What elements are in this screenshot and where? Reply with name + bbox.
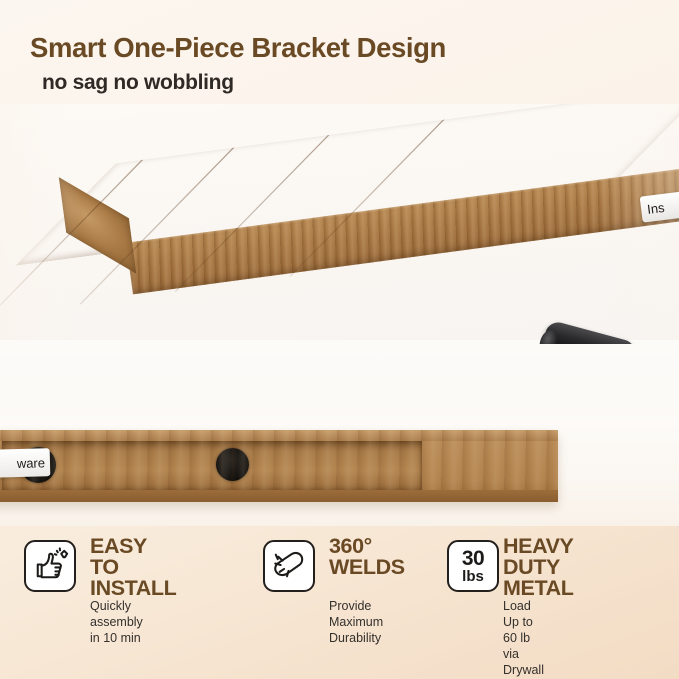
thumbs-up-sparkle-icon	[24, 540, 76, 592]
welding-torch-spark-icon	[263, 540, 315, 592]
shelf-front-lip	[0, 490, 558, 502]
weight-capacity-unit: lbs	[449, 568, 497, 585]
feature-list: EASY TO INSTALL Quickly assembly in 10 m…	[0, 528, 679, 679]
wood-shelf-underside	[0, 430, 558, 502]
feature-subtitle: Provide Maximum Durability	[329, 598, 383, 646]
feature-title: 360° WELDS	[329, 536, 405, 578]
product-label-lower: ware	[0, 448, 50, 478]
weight-capacity-badge: 30 lbs	[447, 540, 499, 592]
infographic-page: Smart One-Piece Bracket Design no sag no…	[0, 0, 679, 679]
feature-title: EASY TO INSTALL	[90, 536, 176, 599]
page-title: Smart One-Piece Bracket Design	[30, 32, 446, 64]
product-photo-upper	[0, 104, 679, 344]
wood-shelf-slab	[116, 104, 679, 332]
metal-bracket-upper	[528, 326, 679, 344]
header: Smart One-Piece Bracket Design no sag no…	[0, 0, 679, 118]
feature-subtitle: Quickly assembly in 10 min	[90, 598, 143, 646]
feature-title: HEAVY DUTY METAL	[503, 536, 573, 599]
feature-subtitle: Load Up to 60 lb via Drywall	[503, 598, 544, 678]
page-subtitle: no sag no wobbling	[42, 71, 234, 95]
product-photo-lower	[0, 416, 679, 526]
photo-divider-band	[0, 340, 679, 424]
